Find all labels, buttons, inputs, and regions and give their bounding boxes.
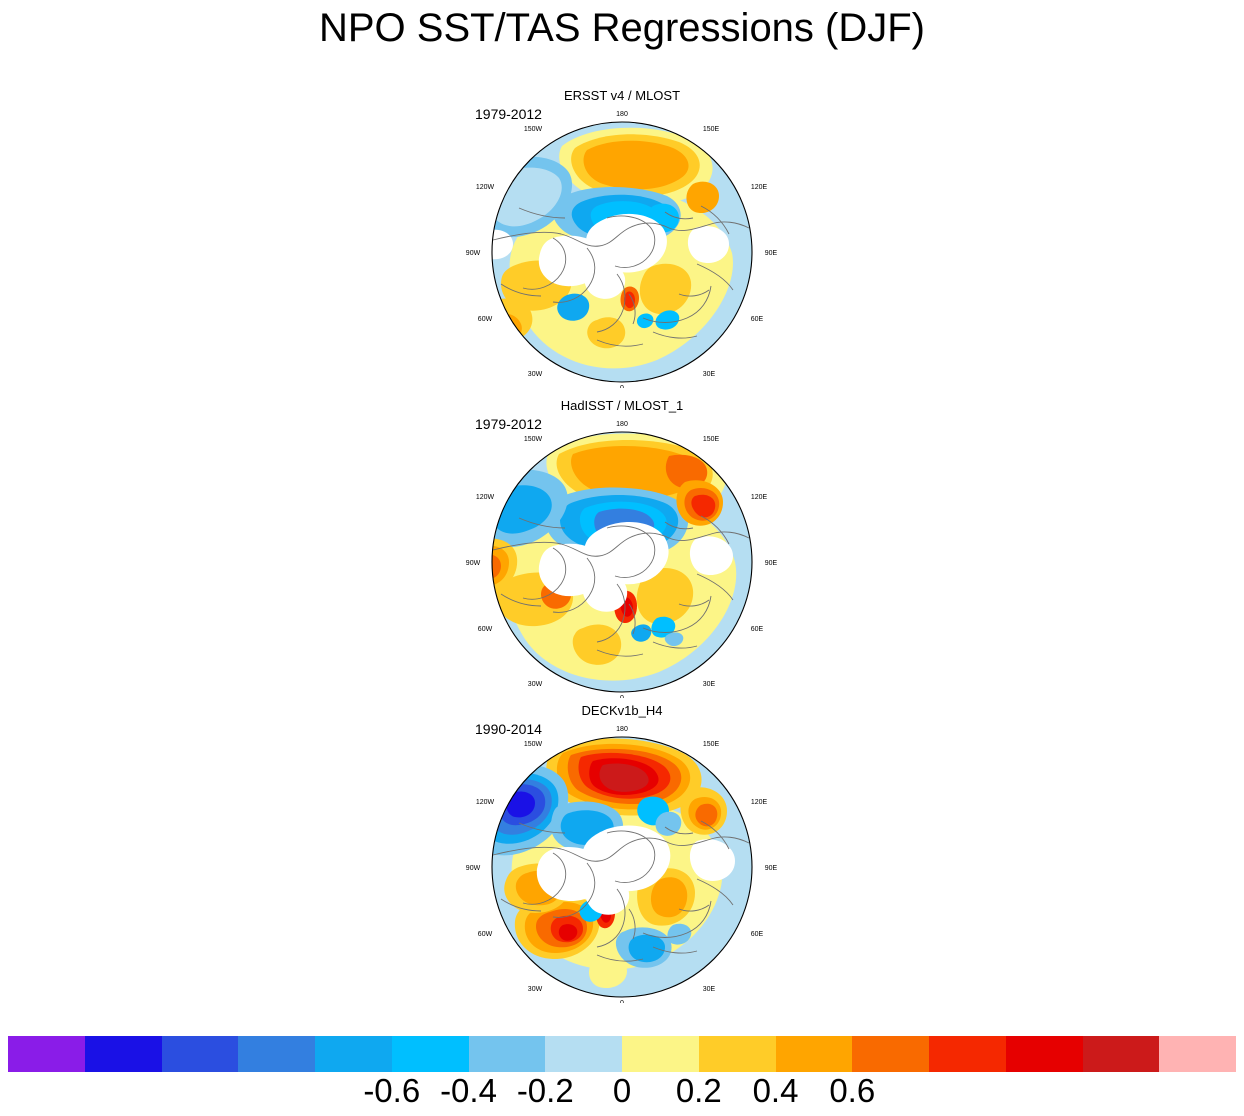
colorbar-cell-3 bbox=[238, 1036, 315, 1072]
colorbar bbox=[8, 1036, 1236, 1072]
colorbar-tick-0.6: 0.6 bbox=[829, 1072, 875, 1110]
map-panel-deck: DECKv1b_H4 1990-2014 bbox=[457, 703, 787, 1003]
colorbar-cell-1 bbox=[85, 1036, 162, 1072]
lon-label-0: 0 bbox=[620, 695, 624, 698]
lon-label-60E: 60E bbox=[751, 931, 764, 938]
colorbar-tick-labels: -0.6-0.4-0.200.20.40.6 bbox=[0, 1072, 1244, 1116]
polar-map-svg: 180 150E 120E 90E 60E 30E 0 30W 60W 90W … bbox=[457, 703, 787, 1003]
colorbar-tick-0: 0 bbox=[613, 1072, 631, 1110]
colorbar-cell-0 bbox=[8, 1036, 85, 1072]
lon-label-150W: 150W bbox=[524, 126, 543, 133]
lon-label-120E: 120E bbox=[751, 494, 768, 501]
colorbar-cell-14 bbox=[1083, 1036, 1160, 1072]
figure-root: NPO SST/TAS Regressions (DJF) ERSST v4 /… bbox=[0, 0, 1244, 1116]
lon-label-60E: 60E bbox=[751, 316, 764, 323]
lon-label-120E: 120E bbox=[751, 799, 768, 806]
lon-label-60W: 60W bbox=[478, 931, 493, 938]
lon-label-180: 180 bbox=[616, 726, 628, 733]
lon-label-150E: 150E bbox=[703, 126, 720, 133]
lon-label-60W: 60W bbox=[478, 316, 493, 323]
lon-label-30E: 30E bbox=[703, 371, 716, 378]
colorbar-cell-2 bbox=[162, 1036, 239, 1072]
colorbar-cell-8 bbox=[622, 1036, 699, 1072]
lon-label-30W: 30W bbox=[528, 681, 543, 688]
lon-label-120E: 120E bbox=[751, 184, 768, 191]
lon-label-90W: 90W bbox=[466, 560, 481, 567]
lon-label-150W: 150W bbox=[524, 741, 543, 748]
lon-label-0: 0 bbox=[620, 1000, 624, 1003]
lon-label-60W: 60W bbox=[478, 626, 493, 633]
polar-map: 180 150E 120E 90E 60E 30E 0 30W 60W 90W … bbox=[457, 703, 787, 1003]
lon-label-90E: 90E bbox=[765, 250, 778, 257]
lon-label-90E: 90E bbox=[765, 865, 778, 872]
lon-label-150W: 150W bbox=[524, 436, 543, 443]
colorbar-tick--0.4: -0.4 bbox=[440, 1072, 497, 1110]
lon-label-60E: 60E bbox=[751, 626, 764, 633]
lon-label-90W: 90W bbox=[466, 250, 481, 257]
colorbar-cell-4 bbox=[315, 1036, 392, 1072]
colorbar-tick-0.4: 0.4 bbox=[753, 1072, 799, 1110]
lon-label-30E: 30E bbox=[703, 986, 716, 993]
colorbar-cell-9 bbox=[699, 1036, 776, 1072]
colorbar-cell-7 bbox=[545, 1036, 622, 1072]
lon-label-120W: 120W bbox=[476, 184, 495, 191]
polar-map-svg: 180 150E 120E 90E 60E 30E 0 30W 60W 90W … bbox=[457, 398, 787, 698]
lon-label-30W: 30W bbox=[528, 986, 543, 993]
lon-label-120W: 120W bbox=[476, 799, 495, 806]
lon-label-90W: 90W bbox=[466, 865, 481, 872]
colorbar-tick-0.2: 0.2 bbox=[676, 1072, 722, 1110]
colorbar-cell-13 bbox=[1006, 1036, 1083, 1072]
page-title: NPO SST/TAS Regressions (DJF) bbox=[0, 6, 1244, 51]
lon-label-120W: 120W bbox=[476, 494, 495, 501]
map-panel-hadisst: HadISST / MLOST_1 1979-2012 bbox=[457, 398, 787, 698]
colorbar-cell-11 bbox=[852, 1036, 929, 1072]
colorbar-tick--0.2: -0.2 bbox=[517, 1072, 574, 1110]
colorbar-cell-6 bbox=[469, 1036, 546, 1072]
polar-map-svg: 180 150E 120E 90E 60E 30E 0 30W 60W 90W … bbox=[457, 88, 787, 388]
lon-label-90E: 90E bbox=[765, 560, 778, 567]
lon-label-30W: 30W bbox=[528, 371, 543, 378]
lon-label-180: 180 bbox=[616, 421, 628, 428]
lon-label-180: 180 bbox=[616, 111, 628, 118]
map-field bbox=[468, 737, 752, 997]
lon-label-0: 0 bbox=[620, 385, 624, 388]
map-panel-ersst: ERSST v4 / MLOST 1979-2012 bbox=[457, 88, 787, 388]
polar-map: 180 150E 120E 90E 60E 30E 0 30W 60W 90W … bbox=[457, 398, 787, 698]
lon-label-30E: 30E bbox=[703, 681, 716, 688]
polar-map: 180 150E 120E 90E 60E 30E 0 30W 60W 90W … bbox=[457, 88, 787, 388]
lon-label-150E: 150E bbox=[703, 741, 720, 748]
colorbar-cell-10 bbox=[776, 1036, 853, 1072]
colorbar-tick--0.6: -0.6 bbox=[363, 1072, 420, 1110]
colorbar-cell-5 bbox=[392, 1036, 469, 1072]
lon-label-150E: 150E bbox=[703, 436, 720, 443]
colorbar-cell-15 bbox=[1159, 1036, 1236, 1072]
colorbar-cell-12 bbox=[929, 1036, 1006, 1072]
